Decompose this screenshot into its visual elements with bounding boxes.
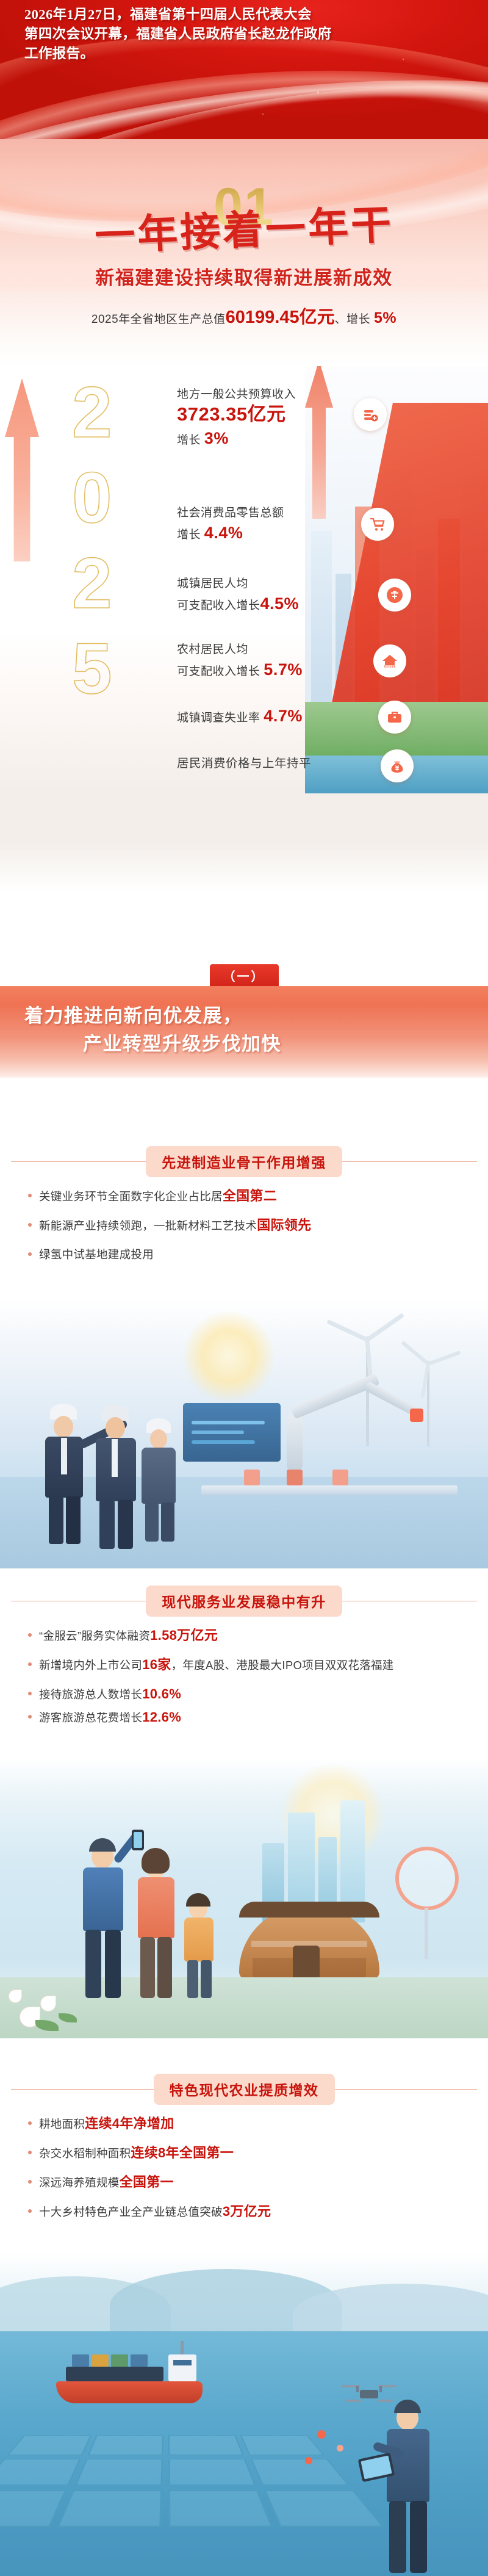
- stat-growth-label: 增长: [177, 434, 201, 447]
- bullet-text: 绿氢中试基地建成投用: [39, 1248, 154, 1261]
- bridge-window: [173, 2360, 192, 2365]
- banner-swoosh-4: [0, 51, 488, 140]
- screen-line: [192, 1421, 265, 1424]
- bullet-text: 新增境内外上市公司: [39, 1659, 142, 1672]
- money-bag-glyph: [388, 757, 406, 775]
- stat-label: 社会消费品零售总额: [177, 504, 433, 522]
- bullet-highlight: 16家: [142, 1657, 171, 1672]
- bullet-item: 杂交水稻制种面积连续8年全国第一: [28, 2143, 461, 2163]
- ship-cargo-deck: [66, 2367, 163, 2381]
- drone-rotor: [345, 2400, 361, 2402]
- tourist-hair: [142, 1848, 170, 1874]
- drone-strut: [356, 2386, 359, 2392]
- subsection-bullet-list: 耕地面积连续4年净增加 杂交水稻制种面积连续8年全国第一 深远海养殖规模全国第一…: [0, 2103, 488, 2237]
- money-bag-icon: [381, 749, 414, 782]
- robot-arm-forearm: [364, 1381, 417, 1415]
- subsection-modern-agriculture: 特色现代农业提质增效 耕地面积连续4年净增加 杂交水稻制种面积连续8年全国第一 …: [0, 2075, 488, 2237]
- tourist-leg: [140, 1937, 155, 1998]
- section-tag: （一）: [210, 964, 279, 987]
- worker-head: [54, 1416, 73, 1438]
- worker-leg: [66, 1496, 81, 1544]
- robot-arm-base: [287, 1415, 303, 1470]
- growth-arrow-left-icon: [5, 378, 39, 561]
- bullet-highlight: 10.6%: [142, 1686, 181, 1701]
- shopping-cart-icon: [361, 508, 394, 541]
- subsection-title: 特色现代农业提质增效: [154, 2074, 335, 2105]
- coins-glyph: [361, 405, 379, 424]
- ferris-wheel-pole: [425, 1908, 428, 1959]
- stat-amount: 3723.35亿元: [177, 403, 286, 425]
- worker-suit: [142, 1448, 176, 1504]
- hero-section: 01 一年接着一年干 新福建建设持续取得新进展新成效 2025年全省地区生产总值…: [0, 139, 488, 366]
- buoy: [337, 2445, 343, 2452]
- tulou-roof: [239, 1902, 379, 1918]
- ship-mast: [181, 2341, 184, 2354]
- drone-strut: [379, 2386, 382, 2392]
- child-leg: [201, 1960, 212, 1998]
- subsection-modern-services: 现代服务业发展稳中有升 “金服云”服务实体融资1.58万亿元 新增境内外上市公司…: [0, 1587, 488, 1743]
- sun-glow: [183, 1311, 274, 1402]
- subsection-title-row: 先进制造业骨干作用增强: [0, 1147, 488, 1175]
- cargo-ship: [56, 2348, 203, 2403]
- bullet-item: 游客旅游总花费增长12.6%: [28, 1708, 461, 1727]
- stat-growth-value: 3%: [204, 429, 229, 447]
- stat-growth: 增长 4.4%: [177, 522, 433, 546]
- tourist-child: [179, 1891, 220, 1998]
- farmer-hair: [394, 2400, 421, 2413]
- fish-pond: [168, 2435, 243, 2455]
- bullet-item: 绿氢中试基地建成投用: [28, 1245, 461, 1264]
- buoy: [317, 2430, 326, 2439]
- conveyor-box: [332, 1470, 348, 1485]
- stat-growth-value: 5.7%: [264, 660, 303, 679]
- tulou-gate: [293, 1946, 320, 1980]
- bullet-highlight: 1.58万亿元: [150, 1628, 218, 1643]
- screen-line: [192, 1440, 255, 1444]
- gdp-growth-label: 增长: [346, 313, 370, 326]
- stat-label: 地方一般公共预算收入: [177, 386, 433, 404]
- section-tag-wrapper: （一）: [0, 964, 488, 987]
- fish-pond: [0, 2490, 66, 2527]
- gdp-separator: 、: [335, 313, 347, 326]
- stats-bottom-fade: [0, 793, 488, 842]
- banner-sparkle: [183, 105, 185, 107]
- worker-leg: [118, 1500, 133, 1549]
- ship-hull: [56, 2381, 203, 2403]
- jasmine-flower: [40, 1996, 56, 2011]
- bullet-text: 接待旅游总人数增长: [39, 1688, 142, 1701]
- stat-growth: 增长 3%: [177, 428, 433, 451]
- worker-engineer-3: [135, 1418, 182, 1540]
- worker-shirt: [112, 1439, 118, 1477]
- conveyor-belt: [201, 1485, 457, 1495]
- subsection-bullet-list: 关键业务环节全面数字化企业占比居全国第二 新能源产业持续领跑，一批新材料工艺技术…: [0, 1175, 488, 1280]
- section-one: （一） 着力推进向新向优发展， 产业转型升级步伐加快: [0, 842, 488, 1079]
- bullet-item: 十大乡村特色产业全产业链总值突破3万亿元: [28, 2202, 461, 2221]
- bullet-item: 接待旅游总人数增长10.6%: [28, 1684, 461, 1704]
- farmer-jacket: [387, 2429, 429, 2502]
- child-hair: [186, 1893, 210, 1907]
- worker-leg: [99, 1500, 115, 1549]
- gdp-value: 60199.45亿元: [226, 308, 335, 327]
- bullet-item: “金服云”服务实体融资1.58万亿元: [28, 1626, 461, 1645]
- header-announcement-text: 2026年1月27日，福建省第十四届人民代表大会 第四次会议开幕，福建省人民政府…: [24, 5, 470, 63]
- tourist-shirt: [83, 1867, 123, 1931]
- bullet-highlight: 全国第一: [120, 2174, 174, 2190]
- worker-engineer-1: [37, 1404, 91, 1544]
- stat-growth-label: 可支配收入增长: [177, 599, 260, 612]
- screen-line: [192, 1431, 244, 1434]
- hero-subtitle: 新福建建设持续取得新进展新成效: [0, 262, 488, 290]
- buoy: [305, 2457, 312, 2464]
- subsection-title-row: 现代服务业发展稳中有升: [0, 1587, 488, 1615]
- worker-leg: [161, 1503, 174, 1542]
- budget-coins-icon: [354, 398, 387, 431]
- child-leg: [187, 1960, 198, 1998]
- rural-house-icon: [373, 644, 406, 677]
- bullet-item: 新能源产业持续领跑，一批新材料工艺技术国际领先: [28, 1216, 461, 1235]
- bullet-text: 杂交水稻制种面积: [39, 2147, 131, 2160]
- subsection-title: 先进制造业骨干作用增强: [146, 1146, 342, 1177]
- yuan-bell-icon: [378, 579, 411, 612]
- fish-pond: [168, 2490, 273, 2527]
- cart-glyph: [368, 515, 387, 533]
- service-illustration: [0, 1758, 488, 2038]
- worker-shirt: [61, 1438, 67, 1474]
- wind-turbine-blade: [326, 1319, 368, 1342]
- watermark-digit: 2: [72, 541, 145, 626]
- header-line-1: 2026年1月27日，福建省第十四届人民代表大会: [24, 5, 470, 24]
- subsection-advanced-manufacturing: 先进制造业骨干作用增强 关键业务环节全面数字化企业占比居全国第二 新能源产业持续…: [0, 1147, 488, 1280]
- industry-illustration: [0, 1300, 488, 1568]
- robot-gripper: [410, 1409, 423, 1422]
- tourist-leg: [85, 1930, 101, 1998]
- worker-leg: [145, 1503, 159, 1542]
- ship-bridge: [168, 2354, 196, 2381]
- briefcase-icon: [378, 701, 411, 734]
- banner-sparkle: [262, 114, 264, 115]
- stat-item-budget-revenue: 地方一般公共预算收入 3723.35亿元 增长 3%: [177, 386, 433, 451]
- fish-pond: [168, 2459, 256, 2486]
- fish-pond: [240, 2435, 325, 2455]
- subsection-bullet-list: “金服云”服务实体融资1.58万亿元 新增境内外上市公司16家，年度A股、港股最…: [0, 1615, 488, 1743]
- stat-growth-value: 4.5%: [260, 594, 300, 613]
- fish-pond: [57, 2490, 162, 2527]
- fish-pond: [75, 2459, 163, 2486]
- briefcase-glyph: [386, 708, 404, 726]
- fish-pond: [0, 2459, 81, 2486]
- bullet-item: 关键业务环节全面数字化企业占比居全国第二: [28, 1186, 461, 1206]
- building: [311, 531, 332, 714]
- bullet-tail: ，年度A股、港股最大IPO项目双双花落福建: [171, 1659, 394, 1672]
- yuan-glyph: [386, 586, 404, 604]
- subsection-title: 现代服务业发展稳中有升: [146, 1586, 342, 1617]
- bullet-highlight: 连续8年全国第一: [131, 2145, 234, 2160]
- bullet-text: 新能源产业持续领跑，一批新材料工艺技术: [39, 1219, 257, 1232]
- header-banner: 2026年1月27日，福建省第十四届人民代表大会 第四次会议开幕，福建省人民政府…: [0, 0, 488, 140]
- section-spacer: [0, 842, 488, 964]
- section-one-heading: 着力推进向新向优发展， 产业转型升级步伐加快: [0, 986, 488, 1079]
- bullet-text: “金服云”服务实体融资: [39, 1629, 150, 1642]
- bullet-item: 新增境内外上市公司16家，年度A股、港股最大IPO项目双双花落福建: [28, 1655, 461, 1675]
- gdp-growth-value: 5%: [374, 309, 396, 327]
- farmer-leg: [410, 2501, 427, 2573]
- header-line-3: 工作报告。: [24, 44, 470, 63]
- conveyor-box: [287, 1470, 303, 1485]
- section-heading-line-2: 产业转型升级步伐加快: [24, 1030, 464, 1058]
- gdp-headline: 2025年全省地区生产总值60199.45亿元、增长 5%: [0, 303, 488, 328]
- bullet-text: 十大乡村特色产业全产业链总值突破: [39, 2206, 223, 2218]
- bullet-text: 耕地面积: [39, 2118, 85, 2130]
- agriculture-illustration: [0, 2252, 488, 2576]
- bullet-highlight: 国际领先: [257, 1218, 311, 1233]
- bullet-item: 耕地面积连续4年净增加: [28, 2114, 461, 2134]
- wind-turbine-blade: [366, 1313, 404, 1341]
- wind-turbine-blade: [428, 1351, 461, 1366]
- watermark-digit: 0: [72, 455, 145, 541]
- stat-growth-label: 增长: [177, 529, 201, 541]
- cargo-container: [111, 2354, 128, 2367]
- cargo-container: [131, 2354, 148, 2367]
- stat-label: 城镇调查失业率: [177, 712, 260, 724]
- bullet-highlight: 12.6%: [142, 1709, 181, 1725]
- stat-growth-value: 4.4%: [204, 524, 243, 542]
- watermark-digit: 5: [72, 626, 145, 712]
- child-shirt: [184, 1918, 213, 1961]
- farmer-with-tablet: [370, 2397, 443, 2574]
- stat-value: 3723.35亿元: [177, 404, 433, 428]
- bullet-highlight: 连续4年净增加: [85, 2116, 174, 2131]
- watermark-digit: 2: [72, 370, 145, 455]
- worker-head: [150, 1429, 167, 1449]
- banner-sparkle: [317, 92, 319, 93]
- wind-turbine-blade: [401, 1341, 429, 1366]
- stats-section: 2 0 2 5 地方一般公共预算收入 3723.35亿元 增长 3% 社会消费品…: [0, 366, 488, 793]
- house-glyph: [381, 652, 399, 670]
- gdp-prefix: 2025年全省地区生产总值: [91, 313, 226, 326]
- fish-pond: [88, 2435, 163, 2455]
- year-watermark-2025: 2 0 2 5: [72, 370, 145, 712]
- bullet-text: 深远海养殖规模: [39, 2176, 120, 2189]
- worker-head: [106, 1417, 125, 1439]
- cargo-container: [72, 2354, 89, 2367]
- jasmine-flower: [9, 1990, 22, 2003]
- stat-growth-value: 4.7%: [264, 707, 303, 725]
- bullet-highlight: 全国第二: [223, 1188, 277, 1203]
- conveyor-box: [244, 1470, 260, 1485]
- fish-pond: [251, 2459, 350, 2486]
- tourist-adult-female: [129, 1842, 185, 1998]
- subsection-title-row: 特色现代农业提质增效: [0, 2075, 488, 2103]
- worker-leg: [49, 1496, 63, 1544]
- bullet-text: 关键业务环节全面数字化企业占比居: [39, 1190, 223, 1203]
- header-line-2: 第四次会议开幕，福建省人民政府省长赵龙作政府: [24, 24, 470, 44]
- bullet-highlight: 3万亿元: [223, 2204, 271, 2219]
- tourist-leg: [105, 1930, 121, 1998]
- farmer-leg: [389, 2501, 406, 2573]
- tourist-adult-male: [73, 1833, 134, 1998]
- stat-item-retail-sales: 社会消费品零售总额 增长 4.4%: [177, 504, 433, 546]
- tourist-shirt: [138, 1877, 174, 1938]
- bullet-item: 深远海养殖规模全国第一: [28, 2173, 461, 2192]
- ferris-wheel: [395, 1847, 459, 1910]
- stat-growth-label: 可支配收入增长: [177, 665, 260, 678]
- tourist-hair: [89, 1838, 116, 1852]
- section-heading-line-1: 着力推进向新向优发展，: [24, 1002, 464, 1030]
- cargo-container: [91, 2354, 109, 2367]
- bullet-text: 游客旅游总花费增长: [39, 1711, 142, 1724]
- tourist-leg: [157, 1937, 172, 1998]
